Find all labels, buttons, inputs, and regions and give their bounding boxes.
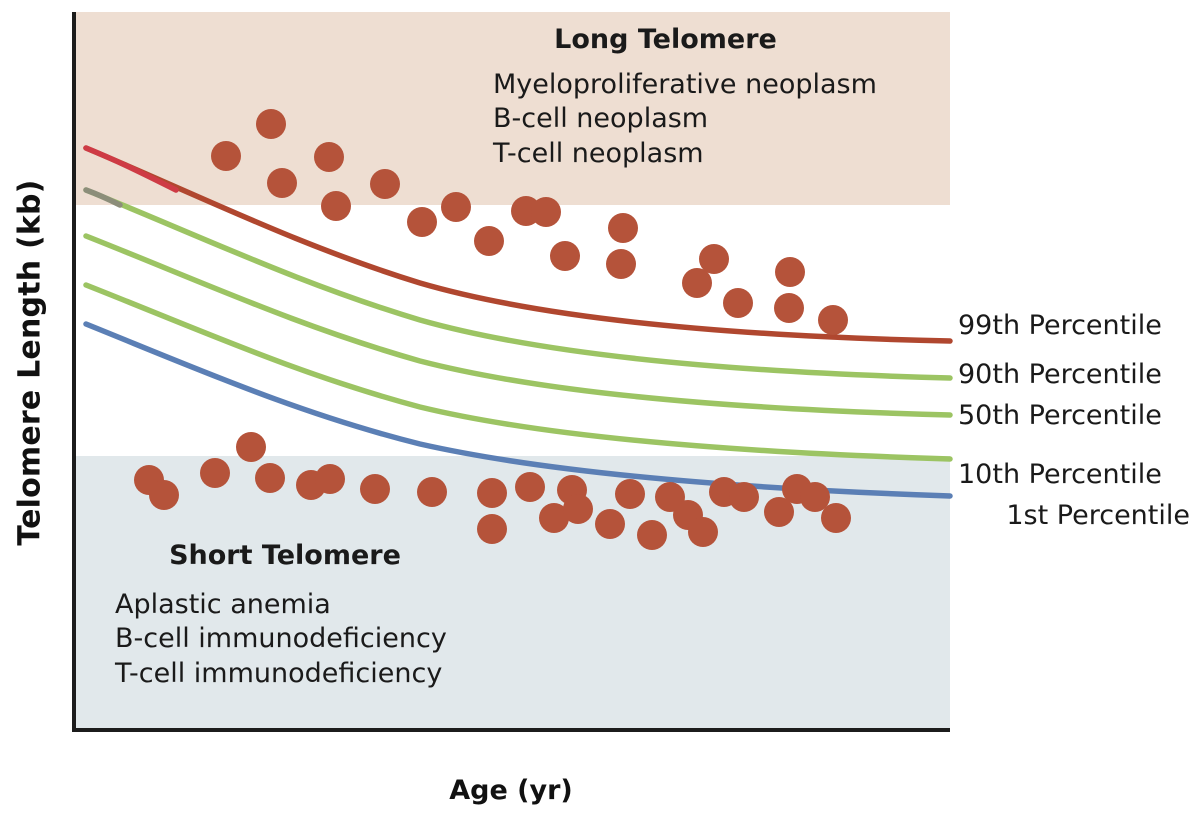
data-point bbox=[236, 432, 266, 462]
data-point bbox=[615, 479, 645, 509]
data-point bbox=[595, 509, 625, 539]
data-point bbox=[315, 464, 345, 494]
data-point bbox=[688, 517, 718, 547]
short-telomere-condition-2: B-cell immunodeficiency bbox=[115, 622, 545, 656]
data-point bbox=[606, 249, 636, 279]
data-point bbox=[474, 226, 504, 256]
short-telomere-annotation: Short Telomere Aplastic anemia B-cell im… bbox=[115, 540, 545, 691]
short-telomere-condition-3: T-cell immunodeficiency bbox=[115, 657, 545, 691]
data-point bbox=[211, 141, 241, 171]
data-point bbox=[637, 520, 667, 550]
data-point bbox=[550, 241, 580, 271]
x-axis-title: Age (yr) bbox=[72, 775, 950, 806]
long-telomere-condition-3: T-cell neoplasm bbox=[493, 137, 943, 171]
data-point bbox=[729, 482, 759, 512]
short-telomere-title: Short Telomere bbox=[115, 540, 455, 571]
telomere-length-chart: Telomere Length (kb) Age (yr) Long Telom… bbox=[0, 0, 1200, 831]
data-point bbox=[360, 474, 390, 504]
data-point bbox=[531, 197, 561, 227]
y-axis-title: Telomere Length (kb) bbox=[13, 143, 48, 583]
data-point bbox=[775, 257, 805, 287]
long-telomere-title: Long Telomere bbox=[493, 24, 838, 55]
long-telomere-condition-1: Myeloproliferative neoplasm bbox=[493, 68, 943, 102]
legend-label-50th: 50th Percentile bbox=[958, 400, 1162, 431]
legend-label-90th: 90th Percentile bbox=[958, 359, 1162, 390]
data-point bbox=[699, 244, 729, 274]
data-point bbox=[200, 458, 230, 488]
data-point bbox=[818, 305, 848, 335]
data-point bbox=[149, 480, 179, 510]
data-point bbox=[723, 288, 753, 318]
data-point bbox=[441, 192, 471, 222]
legend-label-1st: 1st Percentile bbox=[958, 500, 1190, 531]
data-point bbox=[267, 168, 297, 198]
data-point bbox=[774, 293, 804, 323]
data-point bbox=[477, 478, 507, 508]
data-point bbox=[255, 463, 285, 493]
data-point bbox=[370, 169, 400, 199]
data-point bbox=[314, 142, 344, 172]
data-point bbox=[256, 109, 286, 139]
data-point bbox=[821, 503, 851, 533]
long-telomere-condition-2: B-cell neoplasm bbox=[493, 102, 943, 136]
short-telomere-condition-1: Aplastic anemia bbox=[115, 588, 545, 622]
legend-label-99th: 99th Percentile bbox=[958, 310, 1162, 341]
data-point bbox=[321, 191, 351, 221]
data-point bbox=[407, 207, 437, 237]
data-point bbox=[515, 472, 545, 502]
data-point bbox=[563, 494, 593, 524]
long-telomere-annotation: Long Telomere Myeloproliferative neoplas… bbox=[493, 24, 943, 171]
legend-label-10th: 10th Percentile bbox=[958, 459, 1162, 490]
data-point bbox=[417, 477, 447, 507]
data-point bbox=[608, 213, 638, 243]
